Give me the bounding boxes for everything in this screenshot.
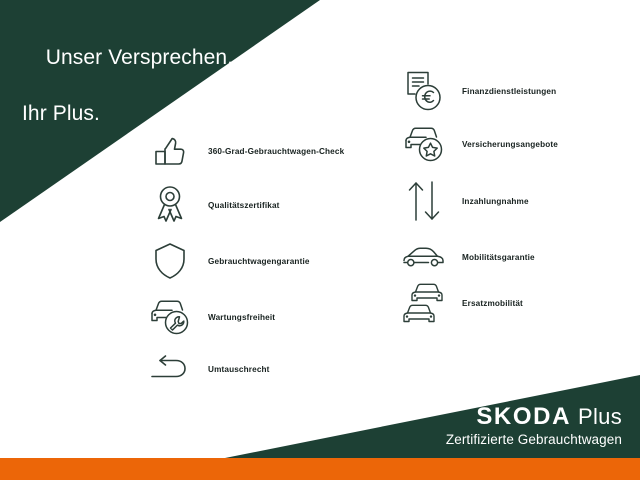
feature-item: Versicherungsangebote xyxy=(396,121,558,167)
skoda-plus-logo: ŠKODA Plus Zertifizierte Gebrauchtwagen xyxy=(446,405,622,447)
feature-label: Wartungsfreiheit xyxy=(208,313,275,322)
feature-label: 360-Grad-Gebrauchtwagen-Check xyxy=(208,147,344,156)
feature-label: Ersatzmobilität xyxy=(462,299,523,308)
promo-graphic: Unser Versprechen. Ihr Plus. 360-Grad-Ge… xyxy=(0,0,640,480)
feature-item: Finanzdienstleistungen xyxy=(396,68,556,114)
feature-item: 360-Grad-Gebrauchtwagen-Check xyxy=(142,128,344,174)
car-star-icon xyxy=(396,121,452,167)
feature-label: Mobilitätsgarantie xyxy=(462,253,535,262)
feature-label: Gebrauchtwagengarantie xyxy=(208,257,310,266)
feature-item: Mobilitätsgarantie xyxy=(396,234,535,280)
feature-item: Gebrauchtwagengarantie xyxy=(142,238,310,284)
feature-label: Qualitätszertifikat xyxy=(208,201,280,210)
feature-item: Umtauschrecht xyxy=(142,346,270,392)
car-wrench-icon xyxy=(142,294,198,340)
document-euro-icon xyxy=(396,68,452,114)
feature-item: Ersatzmobilität xyxy=(396,280,523,326)
return-arrow-icon xyxy=(142,346,198,392)
up-down-arrows-icon xyxy=(396,178,452,224)
shield-icon xyxy=(142,238,198,284)
feature-label: Umtauschrecht xyxy=(208,365,270,374)
award-rosette-icon xyxy=(142,182,198,228)
car-side-icon xyxy=(396,234,452,280)
feature-label: Finanzdienstleistungen xyxy=(462,87,556,96)
logo-brand-name: ŠKODA xyxy=(476,405,571,429)
logo-suffix: Plus xyxy=(578,406,622,428)
feature-item: Wartungsfreiheit xyxy=(142,294,275,340)
feature-item: Inzahlungnahme xyxy=(396,178,529,224)
logo-tagline: Zertifizierte Gebrauchtwagen xyxy=(446,433,622,447)
feature-label: Versicherungsangebote xyxy=(462,140,558,149)
orange-bottom-bar xyxy=(0,458,640,480)
feature-item: Qualitätszertifikat xyxy=(142,182,280,228)
thumbs-up-icon xyxy=(142,128,198,174)
headline-line-2: Ihr Plus. xyxy=(22,100,233,128)
feature-label: Inzahlungnahme xyxy=(462,197,529,206)
two-cars-icon xyxy=(396,280,452,326)
headline-line-1: Unser Versprechen. xyxy=(46,46,233,69)
logo-brandline: ŠKODA Plus xyxy=(446,405,622,429)
